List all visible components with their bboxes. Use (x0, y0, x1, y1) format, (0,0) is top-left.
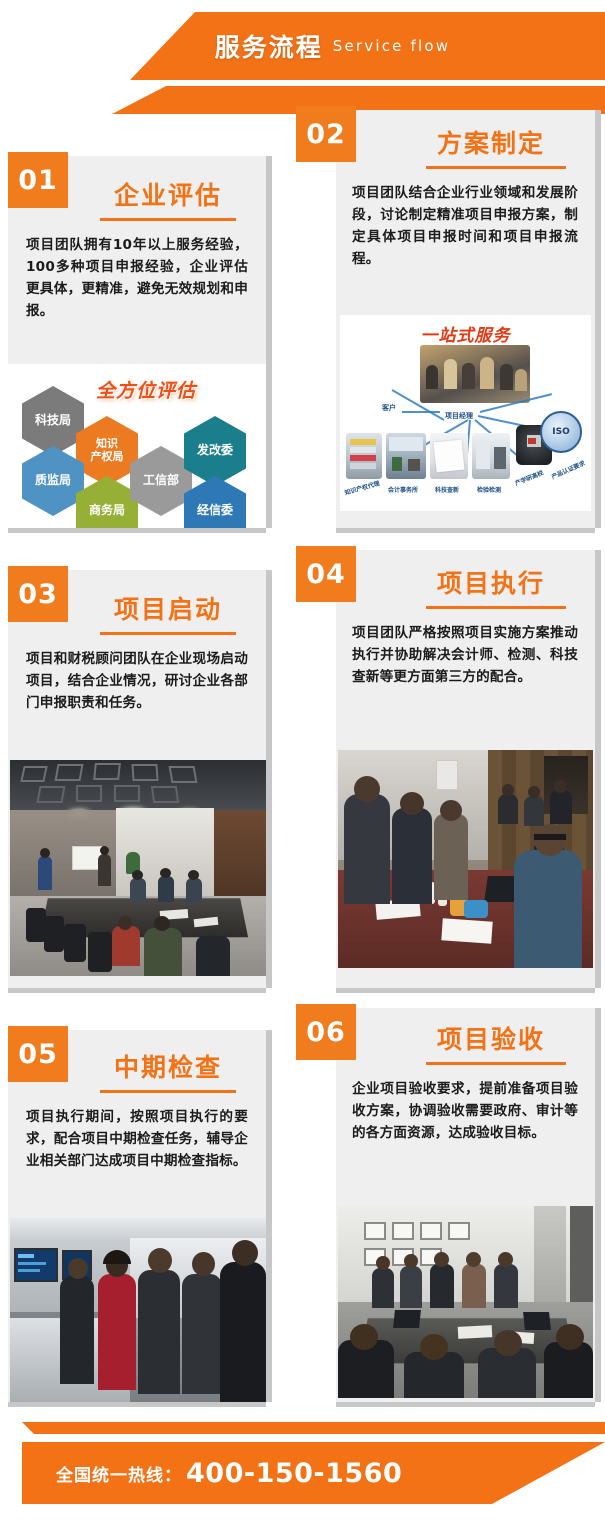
one-stop-label-2: 科技查新 (435, 485, 459, 494)
photo-lobby-visit (10, 1218, 266, 1402)
one-stop-seal-icon: ISO (540, 411, 582, 453)
one-stop-photo-3 (472, 433, 510, 479)
hex-node-0[interactable]: 科技局 (22, 386, 84, 456)
hex-node-4[interactable]: 工信部 (130, 446, 192, 516)
one-stop-label-4: 产学研高校 (513, 468, 544, 488)
hex-diagram-title: 全方位评估 (96, 376, 196, 403)
card-02-title-rule (426, 166, 566, 169)
card-02-title: 方案制定 (396, 124, 586, 160)
page-title: 服务流程 (215, 28, 323, 64)
hex-node-1-label: 知识 产权局 (91, 438, 124, 463)
one-stop-label-5: 产品认证要求 (550, 458, 587, 481)
card-01[interactable]: 企业评估 项目团队拥有10年以上服务经验，100多种项目申报经验，企业评估更具体… (8, 156, 266, 528)
one-stop-label-1: 会计事务所 (388, 485, 418, 494)
one-stop-diagram: 一站式服务 客户 项目经理 (340, 315, 591, 511)
card-05-title: 中期检查 (78, 1048, 258, 1084)
photo-boardroom (338, 1206, 593, 1398)
card-06[interactable]: 项目验收 企业项目验收要求，提前准备项目验收方案，协调验收需要政府、审计等的各方… (336, 1008, 595, 1402)
photo-conference-table (338, 750, 593, 968)
card-06-body: 企业项目验收要求，提前准备项目验收方案，协调验收需要政府、审计等的各方面资源，达… (352, 1078, 578, 1144)
hex-node-6[interactable]: 经信委 (184, 476, 246, 528)
card-03-number: 03 (18, 579, 58, 610)
card-05-title-rule (100, 1090, 236, 1093)
card-02-number: 02 (306, 119, 346, 150)
card-04-title-rule (426, 606, 566, 609)
footer-hotline-number: 400-150-1560 (186, 1458, 402, 1489)
card-03[interactable]: 项目启动 项目和财税顾问团队在企业现场启动项目，结合企业情况，研讨企业各部门申报… (8, 570, 266, 988)
footer-bar-secondary (22, 1422, 605, 1434)
card-04-title: 项目执行 (396, 564, 586, 600)
one-stop-photo-1 (386, 433, 426, 479)
card-03-badge: 03 (8, 566, 68, 622)
card-03-body: 项目和财税顾问团队在企业现场启动项目，结合企业情况，研讨企业各部门申报职责和任务… (26, 648, 248, 714)
card-06-title-rule (426, 1062, 566, 1065)
hex-node-6-label: 经信委 (197, 504, 233, 518)
photo-meeting-room (10, 760, 266, 976)
service-flow-infographic: 服务流程 Service flow 企业评估 项目团队拥有10年以上服务经验，1… (0, 0, 605, 1538)
one-stop-center-photo (420, 345, 530, 403)
card-01-number: 01 (18, 165, 58, 196)
card-01-body: 项目团队拥有10年以上服务经验，100多种项目申报经验，企业评估更具体，更精准，… (26, 234, 248, 322)
one-stop-photo-0 (346, 433, 382, 479)
card-04-badge: 04 (296, 546, 356, 602)
hex-node-2-label: 质监局 (35, 474, 71, 488)
card-01-title: 企业评估 (78, 176, 258, 212)
card-02-body: 项目团队结合企业行业领域和发展阶段，讨论制定精准项目申报方案，制定具体项目申报时… (352, 182, 578, 270)
card-05[interactable]: 中期检查 项目执行期间，按照项目执行的要求，配合项目中期检查任务，辅导企业相关部… (8, 1030, 266, 1402)
footer-hotline-label: 全国统一热线： (56, 1461, 182, 1486)
one-stop-client-node: 客户 (382, 403, 396, 413)
page-subtitle: Service flow (333, 37, 451, 55)
hex-node-2[interactable]: 质监局 (22, 446, 84, 516)
one-stop-photo-2 (430, 433, 468, 479)
card-02-badge: 02 (296, 106, 356, 162)
one-stop-label-3: 检验检测 (477, 485, 501, 494)
hex-node-1[interactable]: 知识 产权局 (76, 416, 138, 486)
card-05-number: 05 (18, 1039, 58, 1070)
header-title-group: 服务流程 Service flow (0, 12, 605, 80)
hex-node-5-label: 发改委 (197, 444, 233, 458)
card-05-badge: 05 (8, 1026, 68, 1082)
card-01-badge: 01 (8, 152, 68, 208)
hex-node-0-label: 科技局 (35, 414, 71, 428)
one-stop-seal-text: ISO (552, 427, 569, 437)
footer-banner: 全国统一热线： 400-150-1560 (0, 1414, 605, 1524)
card-05-body: 项目执行期间，按照项目执行的要求，配合项目中期检查任务，辅导企业相关部门达成项目… (26, 1106, 248, 1172)
card-04-number: 04 (306, 559, 346, 590)
hex-node-5[interactable]: 发改委 (184, 416, 246, 486)
card-03-title-rule (100, 632, 236, 635)
hex-node-4-label: 工信部 (143, 474, 179, 488)
one-stop-label-0: 知识产权代理 (343, 478, 380, 497)
card-03-title: 项目启动 (78, 590, 258, 626)
one-stop-diagram-title: 一站式服务 (340, 321, 591, 346)
card-06-title: 项目验收 (396, 1020, 586, 1056)
card-01-title-rule (100, 218, 236, 221)
card-02[interactable]: 方案制定 项目团队结合企业行业领域和发展阶段，讨论制定精准项目申报方案，制定具体… (336, 110, 595, 528)
footer-hotline[interactable]: 全国统一热线： 400-150-1560 (56, 1442, 402, 1504)
card-04-body: 项目团队严格按照项目实施方案推动执行并协助解决会计师、检测、科技查新等更方面第三… (352, 622, 578, 688)
hex-node-3[interactable]: 商务局 (76, 476, 138, 528)
card-04[interactable]: 项目执行 项目团队严格按照项目实施方案推动执行并协助解决会计师、检测、科技查新等… (336, 550, 595, 988)
card-06-badge: 06 (296, 1004, 356, 1060)
hex-node-3-label: 商务局 (89, 504, 125, 518)
card-06-number: 06 (306, 1017, 346, 1048)
hex-diagram: 全方位评估 科技局 知识 产权局 质监局 商务局 工信部 发改委 经信委 (8, 364, 266, 528)
